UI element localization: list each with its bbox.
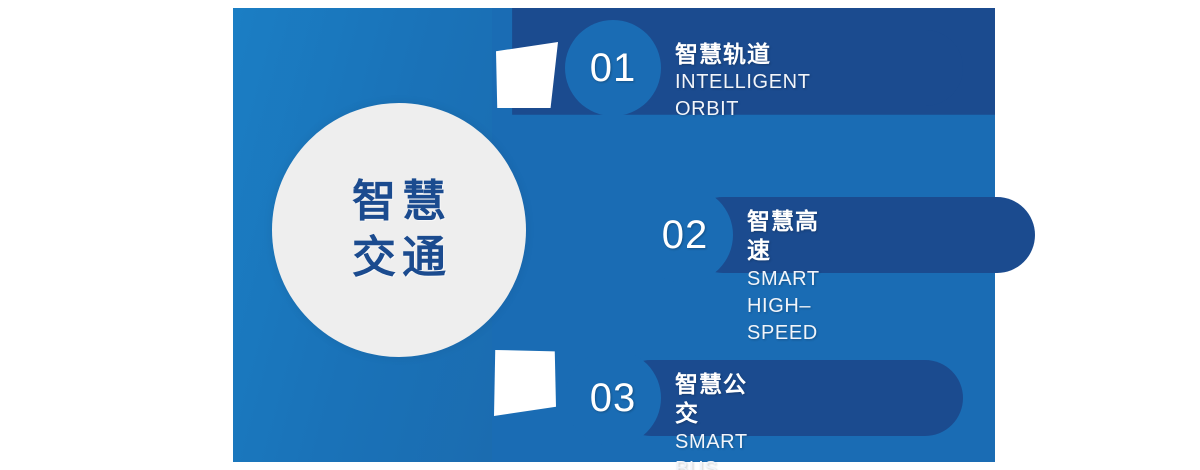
item-03-number-badge[interactable]: 03 <box>565 350 661 446</box>
connector-shape-bottom-icon <box>494 350 556 416</box>
center-title-line1: 智慧 <box>346 174 452 230</box>
connector-shape-top-icon <box>496 42 558 108</box>
item-02-number-badge[interactable]: 02 <box>637 187 733 283</box>
item-03-title-cn: 智慧公交 <box>675 370 747 429</box>
item-03-title-en: SMART BUS <box>675 429 747 470</box>
item-01-labels: 智慧轨道 INTELLIGENT ORBIT <box>675 40 810 123</box>
item-02-number: 02 <box>662 213 709 258</box>
connector-shape-middle-icon <box>0 0 74 116</box>
item-02-labels: 智慧高速 SMART HIGH–SPEED <box>747 207 819 347</box>
item-03-number: 03 <box>590 376 637 421</box>
item-02-pill[interactable] <box>685 197 1035 273</box>
center-title-line2: 交通 <box>346 230 452 286</box>
item-02-title-en: SMART HIGH–SPEED <box>747 266 819 347</box>
infographic-canvas: 智慧 交通 01 智慧轨道 INTELLIGENT ORBIT 02 智慧高速 … <box>0 0 1200 470</box>
item-01-title-cn: 智慧轨道 <box>675 40 810 69</box>
item-03-pill[interactable] <box>613 360 963 436</box>
item-03-labels: 智慧公交 SMART BUS <box>675 370 747 470</box>
item-01-number: 01 <box>590 46 637 91</box>
item-01-number-badge[interactable]: 01 <box>565 20 661 116</box>
item-01-title-en: INTELLIGENT ORBIT <box>675 69 810 123</box>
item-02-title-cn: 智慧高速 <box>747 207 819 266</box>
center-circle: 智慧 交通 <box>272 103 526 357</box>
